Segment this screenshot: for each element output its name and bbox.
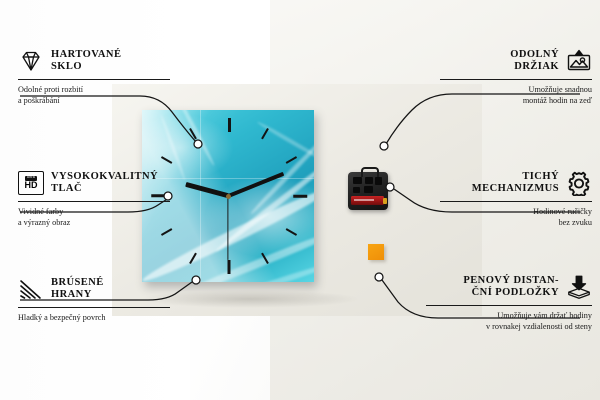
feature-desc-line1: Vividné farby <box>18 207 63 216</box>
feature-title-line1: PENOVÝ DISTAN- <box>463 275 559 286</box>
foam-spacer-icon <box>566 274 592 300</box>
feature-title-line1: BRÚSENÉ <box>51 277 104 288</box>
feature-title-line2: HRANY <box>51 289 92 300</box>
divider <box>18 201 170 202</box>
feature-brusene-hrany: BRÚSENÉ HRANY Hladký a bezpečný povrch <box>18 276 170 324</box>
feature-desc-line1: Odolné proti rozbití <box>18 85 83 94</box>
divider <box>440 79 592 80</box>
feature-vysokokvalitny-tlac: ultra HD VYSOKOKVALITNÝ TLAČ Vividné far… <box>18 170 170 228</box>
feature-title-line1: HARTOVANÉ <box>51 49 121 60</box>
feature-desc-line2: a poškrábání <box>18 96 60 105</box>
feature-title-line2: DRŽIAK <box>514 61 559 72</box>
connector-dot-4 <box>380 142 388 150</box>
feature-desc-line2: montáž hodin na zeď <box>523 96 592 105</box>
connector-dot-6 <box>375 273 383 281</box>
feature-desc-line2: a výrazný obraz <box>18 218 70 227</box>
feature-title-line1: ODOLNÝ <box>510 49 559 60</box>
picture-hanger-icon <box>566 48 592 74</box>
feature-title-line2: TLAČ <box>51 183 82 194</box>
feature-penove-distancne-podlozky: PENOVÝ DISTAN- ČNÍ PODLOŽKY Umožňuje vám… <box>426 274 592 332</box>
connector-dot-1 <box>194 140 202 148</box>
divider <box>18 79 170 80</box>
divider <box>18 307 170 308</box>
feature-desc-line1: Umožňuje vám držať hodiny <box>497 311 592 320</box>
connector-dot-5 <box>386 183 394 191</box>
feature-title-line1: TICHÝ <box>522 171 559 182</box>
feature-desc-line2: bez zvuku <box>559 218 592 227</box>
feature-title-line2: MECHANIZMUS <box>472 183 559 194</box>
connector-dot-3 <box>192 276 200 284</box>
feature-desc-line1: Hodinové ručičky <box>533 207 592 216</box>
feature-title-line2: SKLO <box>51 61 82 72</box>
feature-title-line2: ČNÍ PODLOŽKY <box>472 287 559 298</box>
feature-tichy-mechanizmus: TICHÝ MECHANIZMUS Hodinové ručičky bez z… <box>440 170 592 228</box>
beveled-edge-icon <box>18 276 44 302</box>
infographic-canvas: HARTOVANÉ SKLO Odolné proti rozbití a po… <box>0 0 600 400</box>
feature-title-line1: VYSOKOKVALITNÝ <box>51 171 158 182</box>
feature-desc-line1: Umožňuje snadnou <box>529 85 592 94</box>
ultra-hd-icon: ultra HD <box>18 170 44 196</box>
divider <box>440 201 592 202</box>
diamond-icon <box>18 48 44 74</box>
feature-hartovane-sklo: HARTOVANÉ SKLO Odolné proti rozbití a po… <box>18 48 170 106</box>
ultra-hd-large-label: HD <box>25 181 38 190</box>
gear-icon <box>566 170 592 196</box>
divider <box>426 305 592 306</box>
feature-desc-line2: v rovnakej vzdialenosti od steny <box>486 322 592 331</box>
feature-odolny-drziak: ODOLNÝ DRŽIAK Umožňuje snadnou montáž ho… <box>440 48 592 106</box>
feature-desc-line1: Hladký a bezpečný povrch <box>18 313 106 322</box>
